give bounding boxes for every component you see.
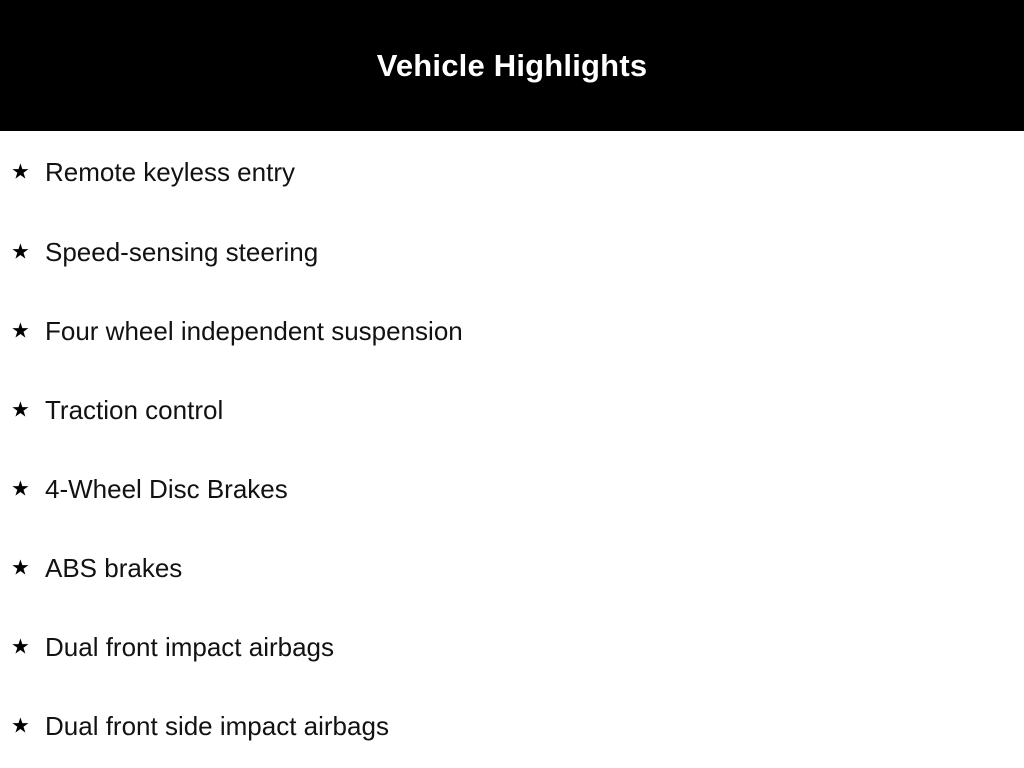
page-title: Vehicle Highlights <box>377 50 648 81</box>
highlight-label: 4-Wheel Disc Brakes <box>45 476 288 502</box>
star-icon: ★ <box>11 241 33 262</box>
list-item: ★ Dual front impact airbags <box>0 607 1024 686</box>
list-item: ★ Four wheel independent suspension <box>0 291 1024 370</box>
vehicle-highlights-list: ★ Remote keyless entry ★ Speed-sensing s… <box>0 131 1024 765</box>
highlight-label: Four wheel independent suspension <box>45 318 463 344</box>
list-item: ★ ABS brakes <box>0 528 1024 607</box>
highlight-label: Speed-sensing steering <box>45 239 318 265</box>
highlight-label: Traction control <box>45 397 223 423</box>
star-icon: ★ <box>11 715 33 736</box>
star-icon: ★ <box>11 636 33 657</box>
highlight-label: ABS brakes <box>45 555 182 581</box>
list-item: ★ Dual front side impact airbags <box>0 686 1024 765</box>
list-item: ★ Speed-sensing steering <box>0 212 1024 291</box>
list-item: ★ 4-Wheel Disc Brakes <box>0 449 1024 528</box>
list-item: ★ Traction control <box>0 370 1024 449</box>
highlight-label: Remote keyless entry <box>45 159 295 185</box>
star-icon: ★ <box>11 161 33 182</box>
star-icon: ★ <box>11 320 33 341</box>
list-item: ★ Remote keyless entry <box>0 131 1024 212</box>
page-header: Vehicle Highlights <box>0 0 1024 131</box>
highlight-label: Dual front impact airbags <box>45 634 334 660</box>
star-icon: ★ <box>11 557 33 578</box>
highlight-label: Dual front side impact airbags <box>45 713 389 739</box>
vehicle-highlights-page: Vehicle Highlights ★ Remote keyless entr… <box>0 0 1024 768</box>
star-icon: ★ <box>11 399 33 420</box>
star-icon: ★ <box>11 478 33 499</box>
